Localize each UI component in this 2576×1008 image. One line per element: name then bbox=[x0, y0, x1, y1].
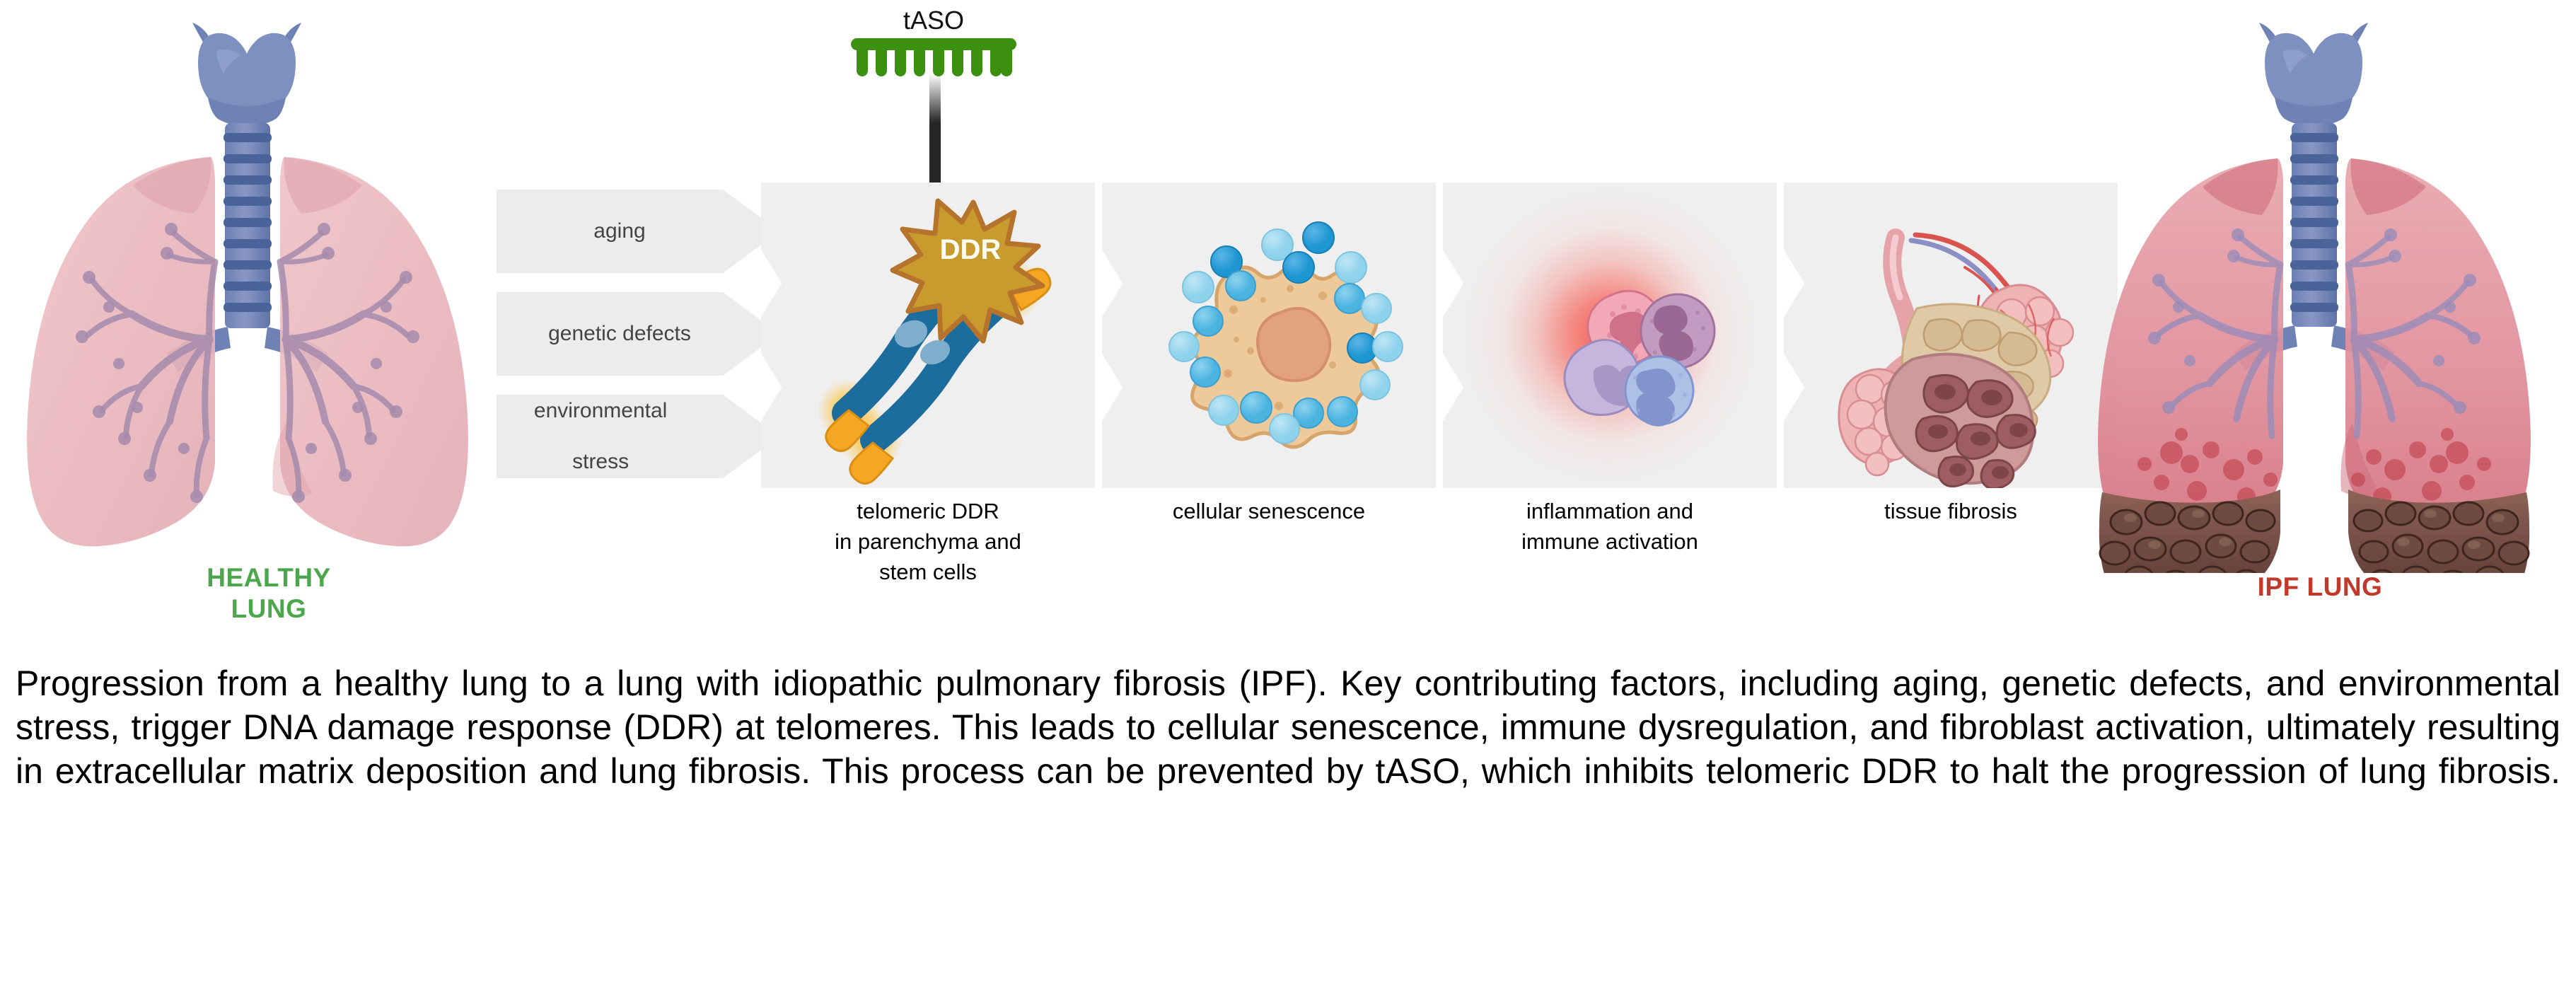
healthy-lung-label: HEALTHY LUNG bbox=[21, 562, 516, 624]
healthy-lung-label-line1: HEALTHY bbox=[21, 562, 516, 593]
input-chevron-environmental-stress-label: environmental stress bbox=[501, 398, 775, 475]
ipf-lung-lobe-left bbox=[2098, 158, 2283, 573]
environmental-line1: environmental bbox=[501, 398, 731, 424]
stage-art-cellular-senescence bbox=[1102, 183, 1436, 488]
taso-label: tASO bbox=[831, 6, 1036, 35]
chromosome-ddr-svg: DDR bbox=[761, 183, 1095, 488]
stage-label-ddr-line2: in parenchyma and bbox=[761, 527, 1095, 557]
stage-inflammation: inflammation and immune activation bbox=[1443, 183, 1777, 488]
stage-telomeric-ddr: DDR telomeric DDR in parenchyma and stem… bbox=[761, 183, 1095, 488]
ipf-lung-illustration: IPF LUNG bbox=[2065, 0, 2575, 658]
input-chevron-aging: aging bbox=[497, 190, 779, 273]
taso-group: tASO bbox=[831, 6, 1036, 204]
stage-art-telomeric-ddr: DDR bbox=[761, 183, 1095, 488]
lung-lobe-right bbox=[272, 157, 468, 546]
immune-cells-svg bbox=[1443, 183, 1777, 488]
input-chevron-genetic-defects: genetic defects bbox=[497, 292, 779, 376]
stage-art-inflammation bbox=[1443, 183, 1777, 488]
stage-label-ddr-line1: telomeric DDR bbox=[761, 497, 1095, 527]
ddr-badge-label: DDR bbox=[940, 234, 1002, 265]
stage-label-senescence-line1: cellular senescence bbox=[1102, 497, 1436, 527]
immune-cell-lymphocyte bbox=[1625, 357, 1693, 427]
senescent-cell-svg bbox=[1102, 183, 1436, 488]
healthy-lung-svg bbox=[21, 7, 474, 566]
stage-label-ddr-line3: stem cells bbox=[761, 557, 1095, 588]
stage-label-cellular-senescence: cellular senescence bbox=[1102, 497, 1436, 527]
stage-label-telomeric-ddr: telomeric DDR in parenchyma and stem cel… bbox=[761, 497, 1095, 587]
input-chevron-environmental-stress: environmental stress bbox=[497, 395, 779, 478]
larynx-icon bbox=[192, 23, 301, 126]
stage-cellular-senescence: cellular senescence bbox=[1102, 183, 1436, 488]
ipf-lung-label: IPF LUNG bbox=[2065, 572, 2575, 603]
healthy-lung-label-line2: LUNG bbox=[21, 593, 516, 625]
healthy-lung-illustration: HEALTHY LUNG bbox=[21, 0, 516, 658]
input-chevron-genetic-defects-label: genetic defects bbox=[501, 321, 775, 347]
ipf-lung-svg bbox=[2065, 7, 2546, 573]
ipf-lung-lobe-right bbox=[2340, 158, 2531, 573]
stage-label-inflammation-line2: immune activation bbox=[1443, 527, 1777, 557]
environmental-line2: stress bbox=[501, 449, 731, 475]
caption-container: Progression from a healthy lung to a lun… bbox=[0, 661, 2576, 1008]
stage-label-inflammation: inflammation and immune activation bbox=[1443, 497, 1777, 557]
lung-lobe-left bbox=[27, 157, 215, 546]
ipf-progression-figure: HEALTHY LUNG tASO bbox=[0, 0, 2576, 658]
larynx-icon bbox=[2259, 23, 2368, 126]
stage-label-inflammation-line1: inflammation and bbox=[1443, 497, 1777, 527]
figure-caption: Progression from a healthy lung to a lun… bbox=[0, 661, 2576, 837]
input-chevron-aging-label: aging bbox=[501, 219, 775, 244]
